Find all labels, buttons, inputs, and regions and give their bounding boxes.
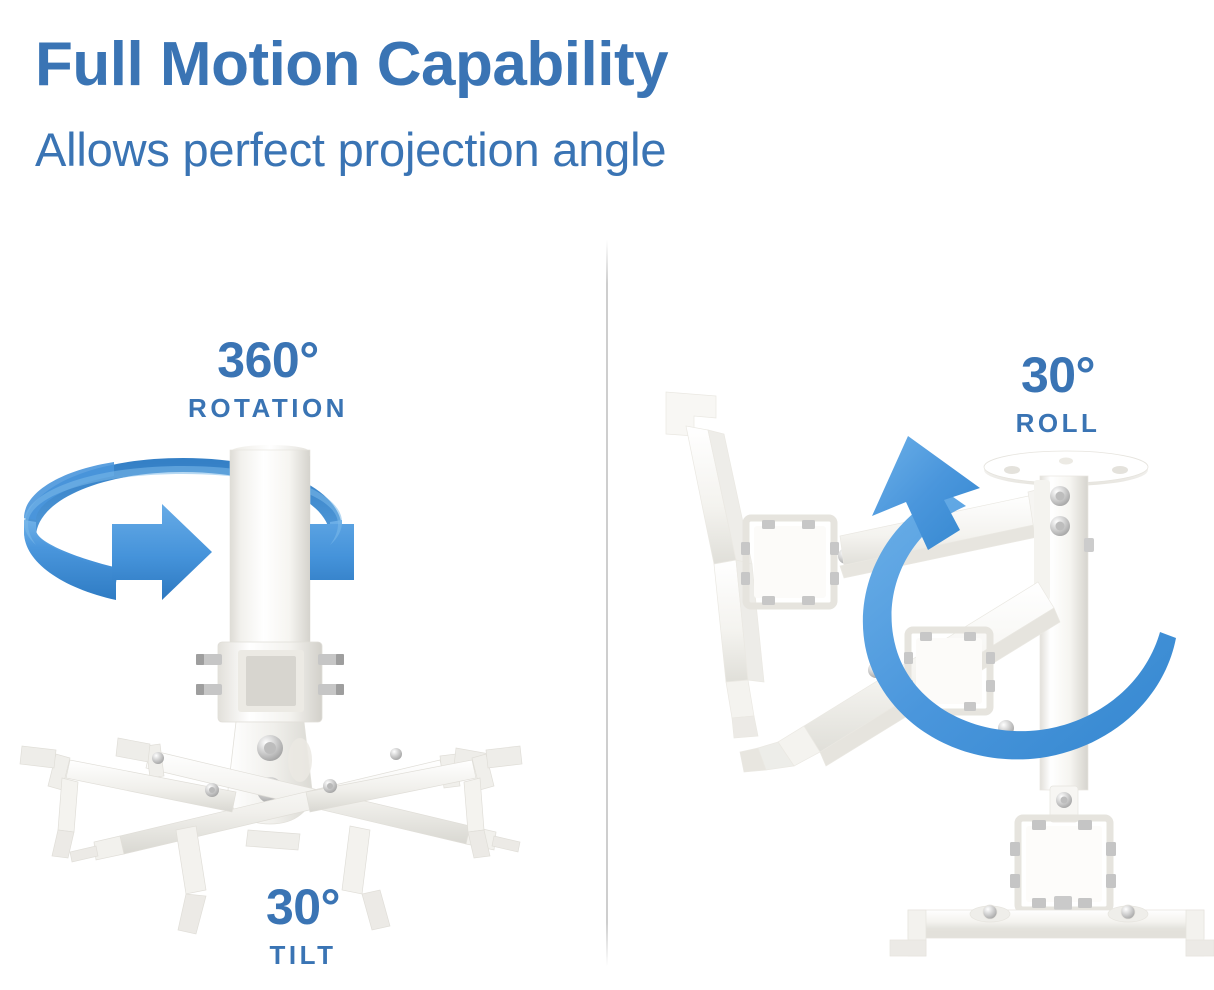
arm-bolt-4 xyxy=(390,748,402,760)
plate-hole-center xyxy=(1059,458,1073,465)
plate-hole-right xyxy=(1112,466,1128,474)
callout-roll: 30° ROLL xyxy=(978,350,1138,436)
roll-degrees: 30° xyxy=(978,350,1138,400)
callout-tilt: 30° TILT xyxy=(203,882,403,968)
arm-bolt-3 xyxy=(152,752,164,764)
rotation-label: ROTATION xyxy=(168,395,368,421)
page-subtitle: Allows perfect projection angle xyxy=(35,126,668,173)
rail-bolt-right xyxy=(1121,905,1135,919)
tilt-label: TILT xyxy=(203,942,403,968)
plate-hole-left xyxy=(1004,466,1020,474)
mount-pole-overlay xyxy=(230,456,310,650)
roll-label: ROLL xyxy=(978,410,1138,436)
lower-bracket-center-bolt xyxy=(1054,896,1072,910)
tilt-degrees: 30° xyxy=(203,882,403,932)
collar-clamp xyxy=(196,642,344,722)
rotation-arrow-left xyxy=(112,504,212,600)
infographic-page: Full Motion Capability Allows perfect pr… xyxy=(0,0,1214,990)
rail-bolt-left xyxy=(983,905,997,919)
heading-block: Full Motion Capability Allows perfect pr… xyxy=(35,34,668,173)
callout-rotation: 360° ROTATION xyxy=(168,335,368,421)
rotation-degrees: 360° xyxy=(168,335,368,385)
bottom-mounting-rail xyxy=(890,905,1214,956)
roll-illustration xyxy=(608,230,1214,990)
page-title: Full Motion Capability xyxy=(35,34,668,96)
pole-side-bolt xyxy=(1084,538,1094,552)
lower-mount-bracket xyxy=(1010,786,1116,910)
